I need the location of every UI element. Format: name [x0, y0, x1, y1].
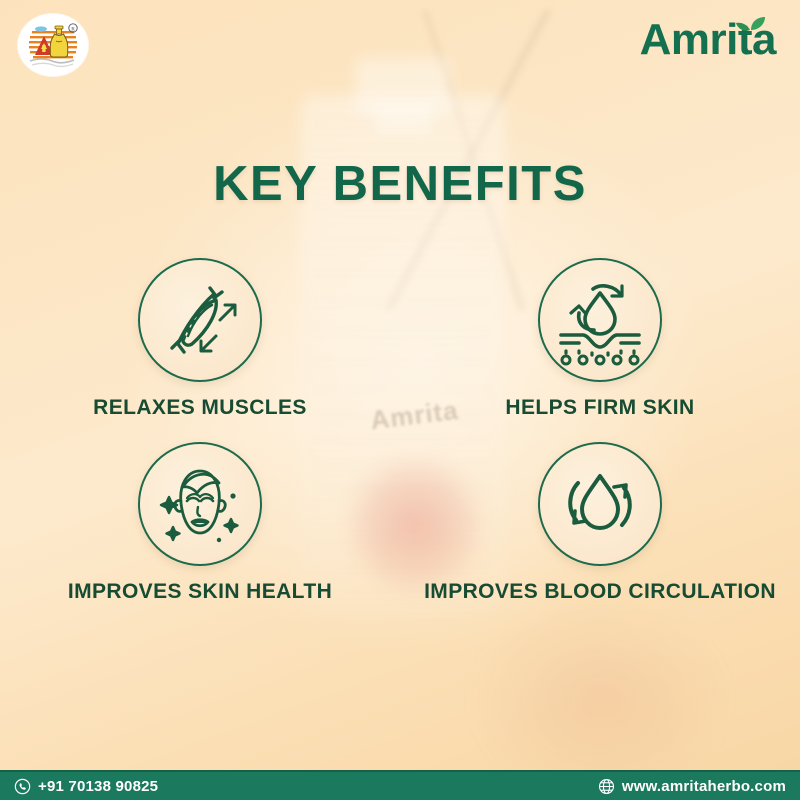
benefit-icon-bubble: [538, 442, 662, 566]
watermark-bottle-cap: [355, 58, 451, 116]
muscle-stretch-icon: [154, 274, 246, 366]
benefits-grid: RELAXES MUSCLES: [0, 258, 800, 604]
svg-text:R: R: [71, 27, 75, 33]
poster-canvas: Amrita: [0, 0, 800, 800]
benefit-item-improves-skin-health: IMPROVES SKIN HEALTH: [0, 442, 400, 604]
benefit-icon-bubble: [538, 258, 662, 382]
footer-website-text: www.amritaherbo.com: [622, 778, 786, 795]
whatsapp-phone-icon: [14, 778, 31, 795]
skin-layers-droplet-icon: [553, 273, 647, 367]
footer-phone-text: +91 70138 90825: [38, 778, 158, 795]
brand-wordmark: Amrita: [640, 18, 776, 62]
footer-website[interactable]: www.amritaherbo.com: [598, 778, 786, 795]
leaf-icon: [735, 14, 769, 34]
benefit-icon-bubble: [138, 442, 262, 566]
contact-footer: +91 70138 90825 www.amritaherbo.com: [0, 770, 800, 800]
footer-phone[interactable]: +91 70138 90825: [14, 778, 158, 795]
benefit-icon-bubble: [138, 258, 262, 382]
amrita-oil-bottle-logo-icon: R: [24, 19, 82, 71]
benefit-item-relaxes-muscles: RELAXES MUSCLES: [0, 258, 400, 420]
benefit-item-improves-blood-circulation: IMPROVES BLOOD CIRCULATION: [400, 442, 800, 604]
page-title: KEY BENEFITS: [0, 156, 800, 212]
face-glow-icon: [153, 457, 247, 551]
benefit-item-helps-firm-skin: HELPS FIRM SKIN: [400, 258, 800, 420]
globe-icon: [598, 778, 615, 795]
benefit-label: IMPROVES BLOOD CIRCULATION: [424, 580, 776, 604]
amrita-logo: R: [18, 14, 88, 76]
droplet-circulation-icon: [554, 458, 646, 550]
watermark-bottle-neck: [375, 104, 431, 134]
benefit-label: HELPS FIRM SKIN: [505, 396, 694, 420]
registered-trademark-icon: R: [69, 24, 77, 33]
benefit-label: RELAXES MUSCLES: [93, 396, 307, 420]
benefit-label: IMPROVES SKIN HEALTH: [68, 580, 332, 604]
